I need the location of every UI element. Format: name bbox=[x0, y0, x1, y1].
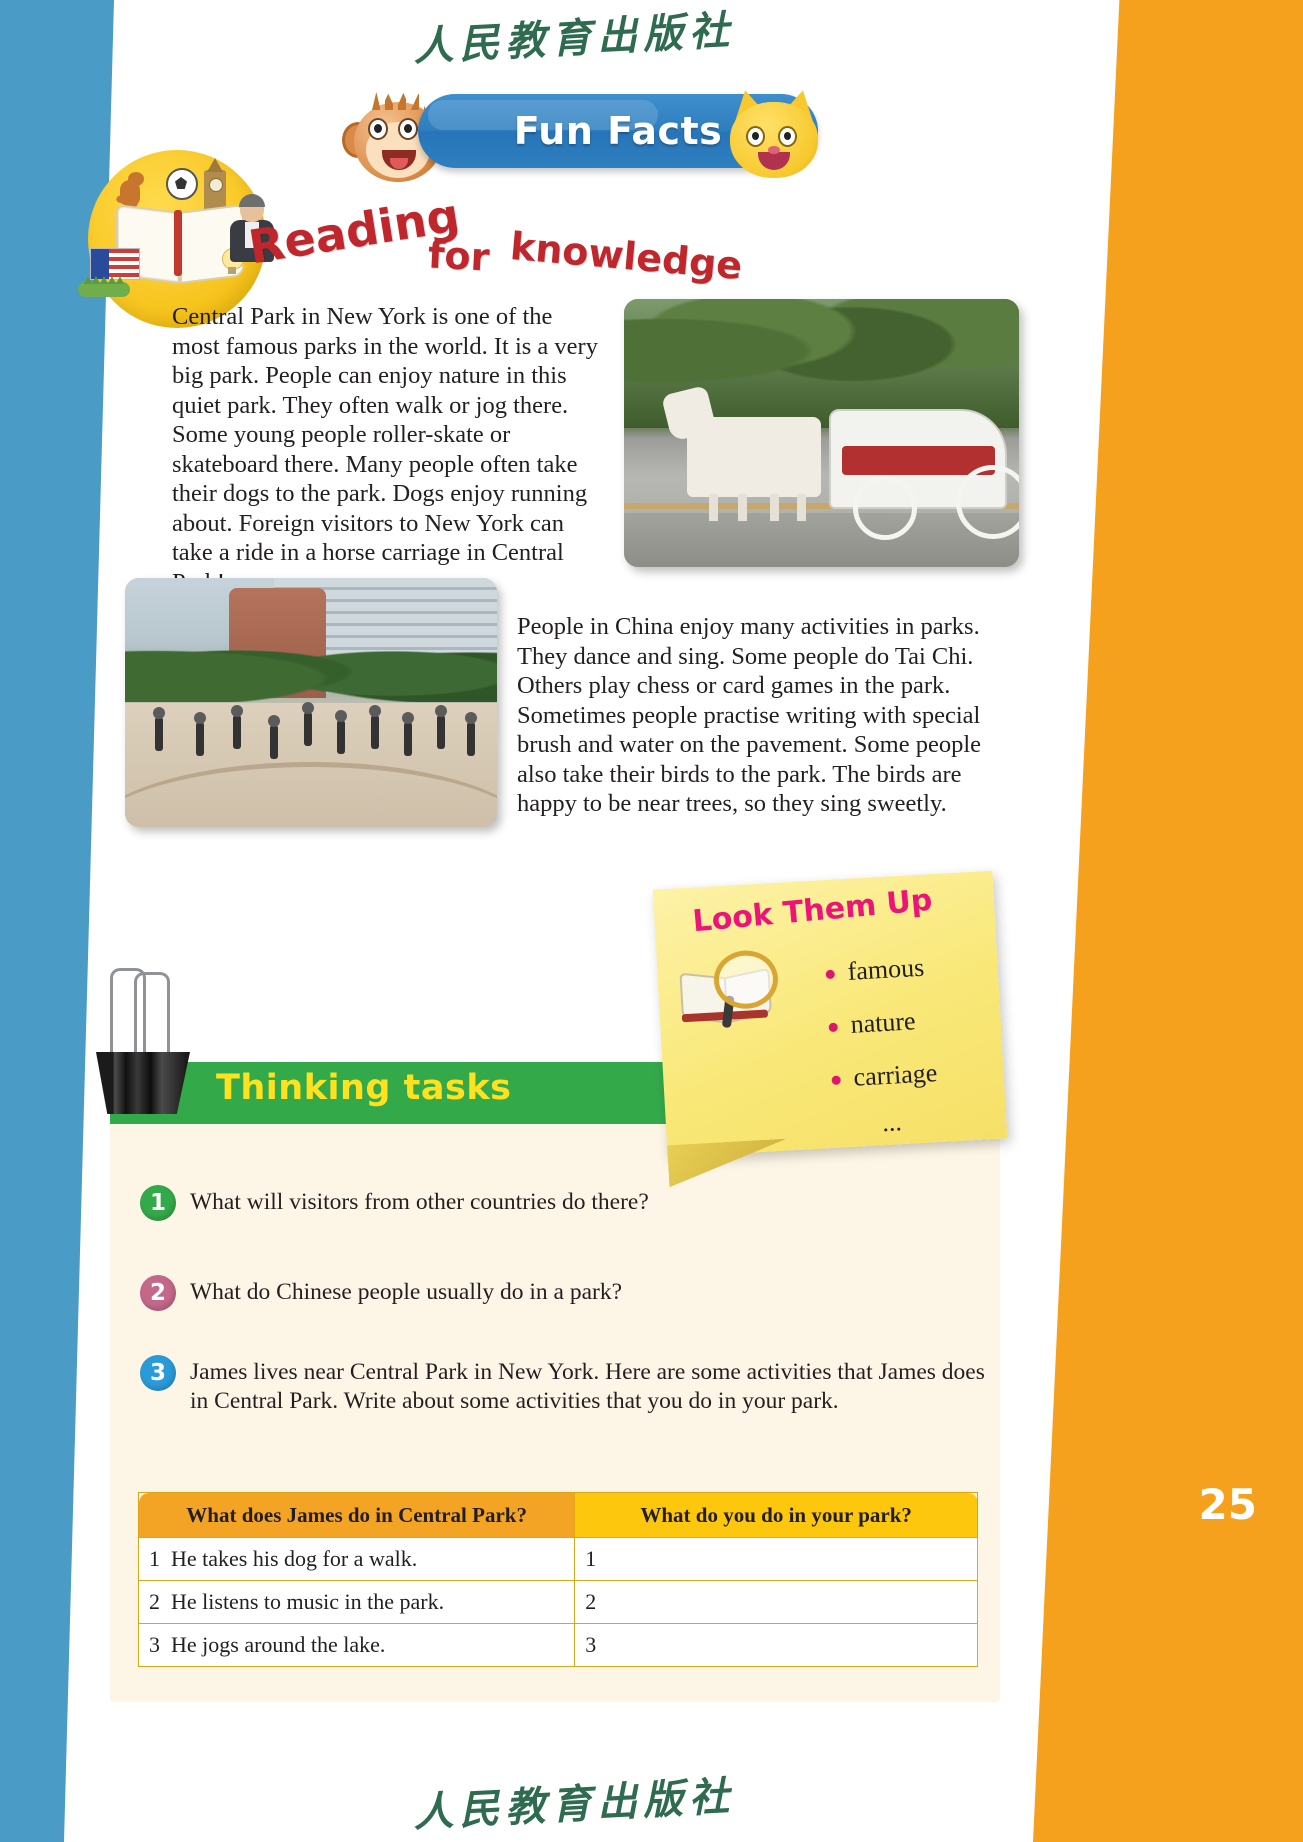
table-row: 3He jogs around the lake. 3 bbox=[139, 1624, 978, 1667]
row-text: He jogs around the lake. bbox=[171, 1632, 385, 1657]
task-2-text: What do Chinese people usually do in a p… bbox=[190, 1275, 622, 1307]
page-number: 25 bbox=[1199, 1480, 1257, 1529]
table-cell-you-2[interactable]: 2 bbox=[575, 1581, 978, 1624]
task-question-2: 2 What do Chinese people usually do in a… bbox=[140, 1275, 680, 1311]
task-question-1: 1 What will visitors from other countrie… bbox=[140, 1185, 680, 1221]
horse-carriage-photo bbox=[624, 299, 1019, 567]
vocabulary-item: nature bbox=[828, 1000, 1029, 1041]
look-them-up-note: Look Them Up famous nature carriage ... bbox=[653, 871, 1007, 1158]
row-text: He takes his dog for a walk. bbox=[171, 1546, 417, 1571]
table-cell-james-3: 3He jogs around the lake. bbox=[139, 1624, 575, 1667]
vocabulary-item: famous bbox=[825, 947, 1026, 988]
textbook-page: 人民教育出版社 Fun Facts Reading for knowle bbox=[0, 0, 1303, 1842]
row-number: 1 bbox=[149, 1546, 171, 1572]
vocabulary-ellipsis: ... bbox=[833, 1100, 1034, 1141]
crocodile-icon bbox=[78, 276, 132, 302]
binder-clip-icon bbox=[96, 968, 192, 1118]
table-cell-james-1: 1He takes his dog for a walk. bbox=[139, 1538, 575, 1581]
tai-chi-park-photo bbox=[125, 578, 497, 827]
article-paragraph-1: Central Park in New York is one of the m… bbox=[172, 302, 604, 597]
magnifying-glass-book-icon bbox=[678, 949, 774, 1030]
table-header-james: What does James do in Central Park? bbox=[139, 1493, 575, 1538]
table-row: 2He listens to music in the park. 2 bbox=[139, 1581, 978, 1624]
section-title: Reading for knowledge bbox=[248, 190, 768, 280]
table-header-row: What does James do in Central Park? What… bbox=[139, 1493, 978, 1538]
table-cell-james-2: 2He listens to music in the park. bbox=[139, 1581, 575, 1624]
look-them-up-title: Look Them Up bbox=[691, 879, 973, 939]
section-title-word-knowledge: knowledge bbox=[509, 224, 744, 288]
thinking-tasks-heading: Thinking tasks bbox=[216, 1068, 511, 1108]
row-number: 2 bbox=[149, 1589, 171, 1615]
task-3-badge: 3 bbox=[140, 1355, 176, 1391]
table-row: 1He takes his dog for a walk. 1 bbox=[139, 1538, 978, 1581]
task-1-text: What will visitors from other countries … bbox=[190, 1185, 649, 1217]
task-2-badge: 2 bbox=[140, 1275, 176, 1311]
activities-table: What does James do in Central Park? What… bbox=[138, 1492, 978, 1667]
task-question-3: 3 James lives near Central Park in New Y… bbox=[140, 1355, 1000, 1416]
row-text: He listens to music in the park. bbox=[171, 1589, 444, 1614]
row-number: 3 bbox=[585, 1632, 607, 1658]
vocabulary-list: famous nature carriage ... bbox=[785, 947, 1036, 1166]
row-number: 1 bbox=[585, 1546, 607, 1572]
vocabulary-item: carriage bbox=[831, 1053, 1032, 1094]
task-3-text: James lives near Central Park in New Yor… bbox=[190, 1355, 1000, 1416]
article-paragraph-2: People in China enjoy many activities in… bbox=[517, 612, 987, 819]
table-cell-you-3[interactable]: 3 bbox=[575, 1624, 978, 1667]
row-number: 2 bbox=[585, 1589, 607, 1615]
section-title-word-for: for bbox=[427, 232, 491, 279]
fun-facts-banner: Fun Facts bbox=[330, 94, 820, 180]
row-number: 3 bbox=[149, 1632, 171, 1658]
task-1-badge: 1 bbox=[140, 1185, 176, 1221]
soccer-ball-icon bbox=[166, 168, 198, 200]
cat-mascot-icon bbox=[722, 86, 826, 186]
table-cell-you-1[interactable]: 1 bbox=[575, 1538, 978, 1581]
table-header-you: What do you do in your park? bbox=[575, 1493, 978, 1538]
